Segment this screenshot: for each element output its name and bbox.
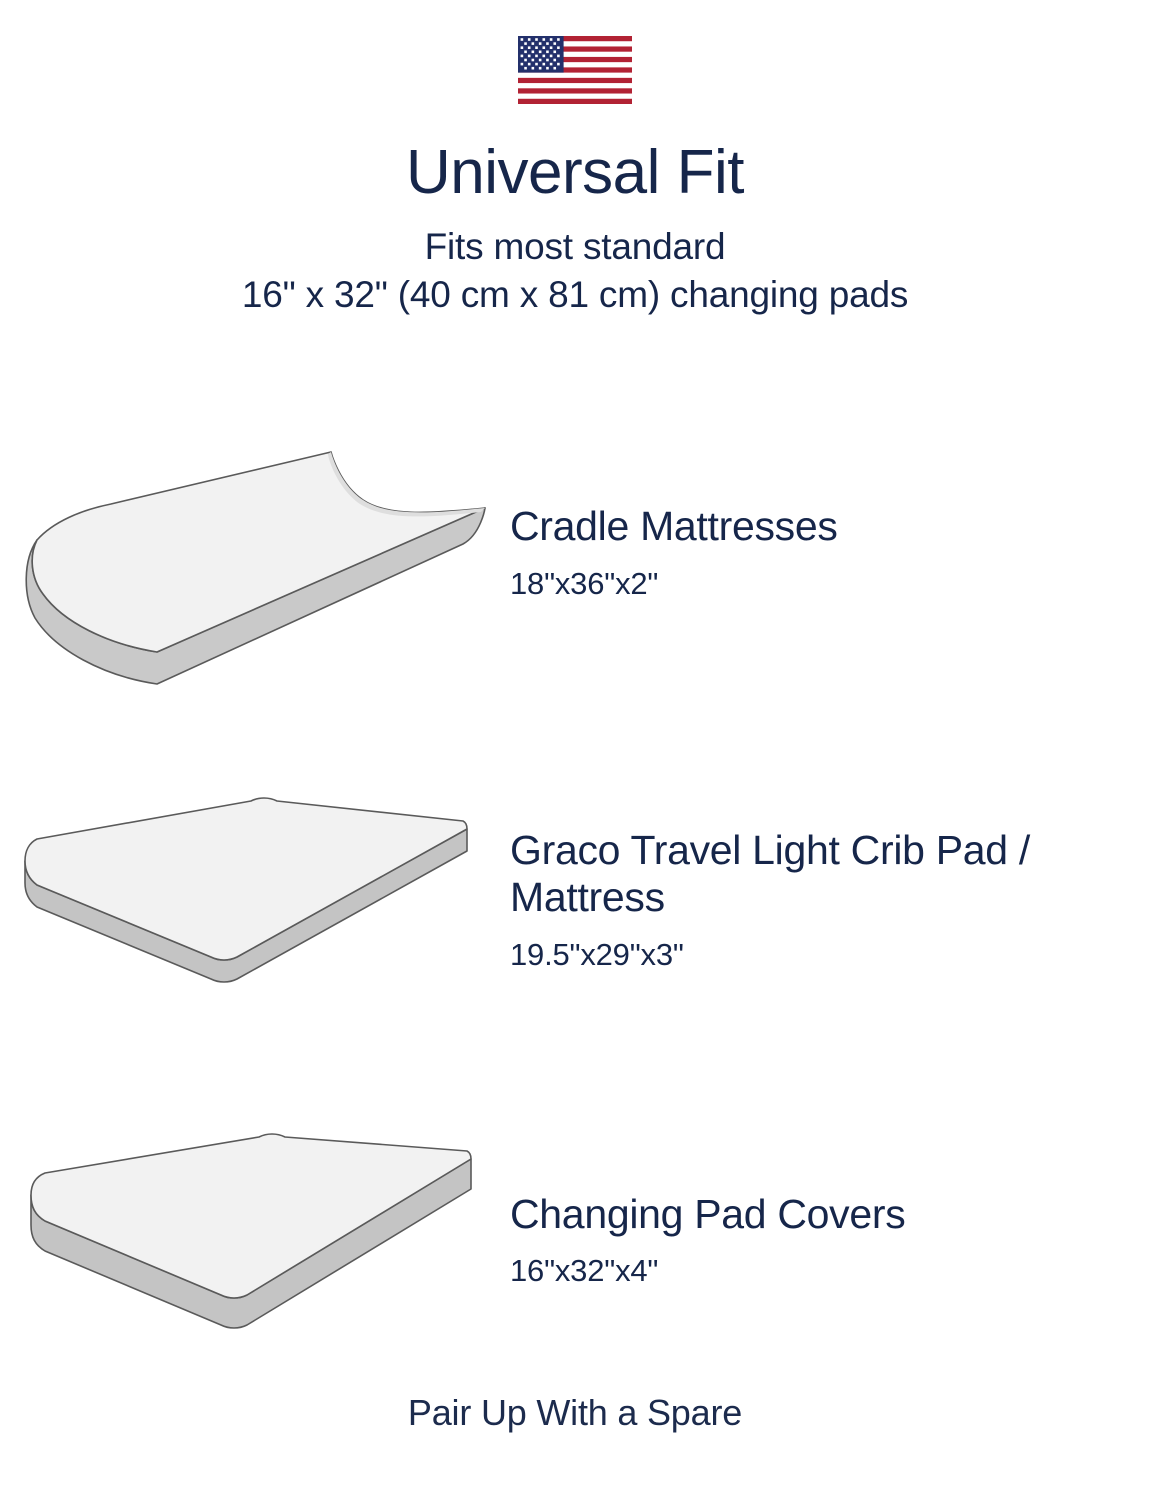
product-illustration — [0, 403, 500, 703]
product-name: Graco Travel Light Crib Pad / Mattress — [510, 827, 1110, 922]
list-item: Graco Travel Light Crib Pad / Mattress 1… — [0, 725, 1150, 1075]
product-dimensions: 18"x36"x2" — [510, 565, 1110, 602]
list-item: Cradle Mattresses 18"x36"x2" — [0, 380, 1150, 725]
product-illustration — [0, 750, 500, 1050]
product-text: Cradle Mattresses 18"x36"x2" — [500, 503, 1150, 602]
footer-tagline: Pair Up With a Spare — [0, 1392, 1150, 1434]
subtitle-line-2: 16" x 32" (40 cm x 81 cm) changing pads — [0, 271, 1150, 319]
product-illustration — [0, 1090, 500, 1390]
flag-badge — [0, 36, 1150, 104]
page-title: Universal Fit — [0, 140, 1150, 205]
subtitle-line-1: Fits most standard — [0, 223, 1150, 271]
flat-crib-mattress-icon — [15, 795, 485, 1005]
list-item: Changing Pad Covers 16"x32"x4" — [0, 1075, 1150, 1405]
product-text: Graco Travel Light Crib Pad / Mattress 1… — [500, 827, 1150, 973]
product-dimensions: 16"x32"x4" — [510, 1252, 1110, 1289]
thick-changing-pad-icon — [15, 1133, 485, 1348]
page-subtitle: Fits most standard 16" x 32" (40 cm x 81… — [0, 223, 1150, 319]
footer: Pair Up With a Spare — [0, 1392, 1150, 1434]
header: Universal Fit Fits most standard 16" x 3… — [0, 140, 1150, 319]
product-name: Cradle Mattresses — [510, 503, 1110, 551]
contoured-changing-pad-icon — [15, 438, 485, 668]
us-flag-icon — [518, 36, 632, 104]
product-dimensions: 19.5"x29"x3" — [510, 936, 1110, 973]
product-list: Cradle Mattresses 18"x36"x2" Graco Trave… — [0, 380, 1150, 1405]
product-text: Changing Pad Covers 16"x32"x4" — [500, 1191, 1150, 1290]
product-name: Changing Pad Covers — [510, 1191, 1110, 1239]
